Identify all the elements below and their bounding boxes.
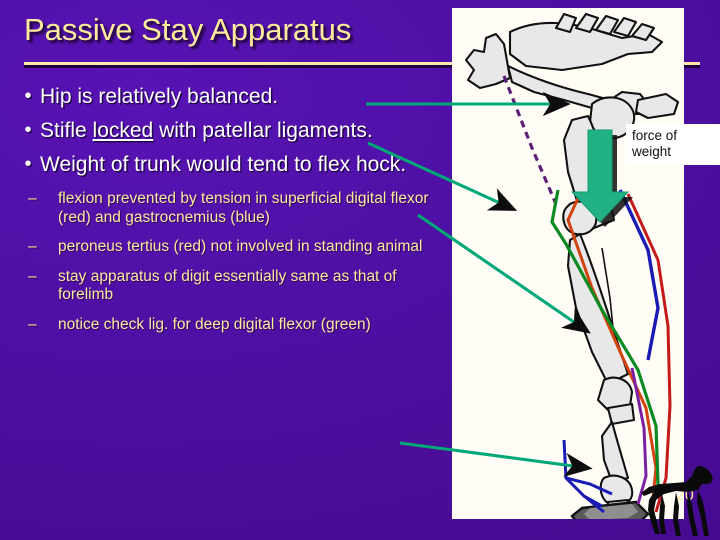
equine-hindlimb-diagram: [452, 8, 684, 519]
dash-marker: –: [16, 238, 58, 257]
sub-bullet-text: notice check lig. for deep digital flexo…: [58, 316, 446, 335]
sub-bullet-text: stay apparatus of digit essentially same…: [58, 268, 446, 305]
sub-list-item: – notice check lig. for deep digital fle…: [16, 316, 446, 335]
list-item: • Stifle locked with patellar ligaments.: [16, 118, 446, 143]
emphasis-locked: locked: [93, 119, 154, 142]
dash-marker: –: [16, 190, 58, 209]
hoof: [572, 502, 648, 519]
bullet-text: Stifle locked with patellar ligaments.: [40, 118, 446, 143]
bullet-marker: •: [16, 152, 40, 177]
dash-marker: –: [16, 268, 58, 287]
list-item: • Hip is relatively balanced.: [16, 84, 446, 109]
bullet-marker: •: [16, 84, 40, 109]
slide-canvas: Passive Stay Apparatus • Hip is relative…: [0, 0, 720, 540]
bullet-text: Hip is relatively balanced.: [40, 84, 446, 109]
horse-silhouette-icon: [640, 460, 718, 540]
sub-bullet-text: peroneus tertius (red) not involved in s…: [58, 238, 446, 257]
bullet-text: Weight of trunk would tend to flex hock.: [40, 152, 446, 177]
force-of-weight-label: force of weight: [626, 124, 720, 165]
page-title: Passive Stay Apparatus: [24, 12, 444, 48]
sub-list-item: – stay apparatus of digit essentially sa…: [16, 268, 446, 305]
anatomy-figure-panel: [452, 8, 684, 519]
sub-list-item: – flexion prevented by tension in superf…: [16, 190, 446, 227]
sub-list-item: – peroneus tertius (red) not involved in…: [16, 238, 446, 257]
list-item: • Weight of trunk would tend to flex hoc…: [16, 152, 446, 177]
dash-marker: –: [16, 316, 58, 335]
sub-bullet-list: – flexion prevented by tension in superf…: [16, 190, 446, 334]
sub-bullet-text: flexion prevented by tension in superfic…: [58, 190, 446, 227]
bullet-list: • Hip is relatively balanced. • Stifle l…: [16, 84, 446, 345]
bullet-marker: •: [16, 118, 40, 143]
